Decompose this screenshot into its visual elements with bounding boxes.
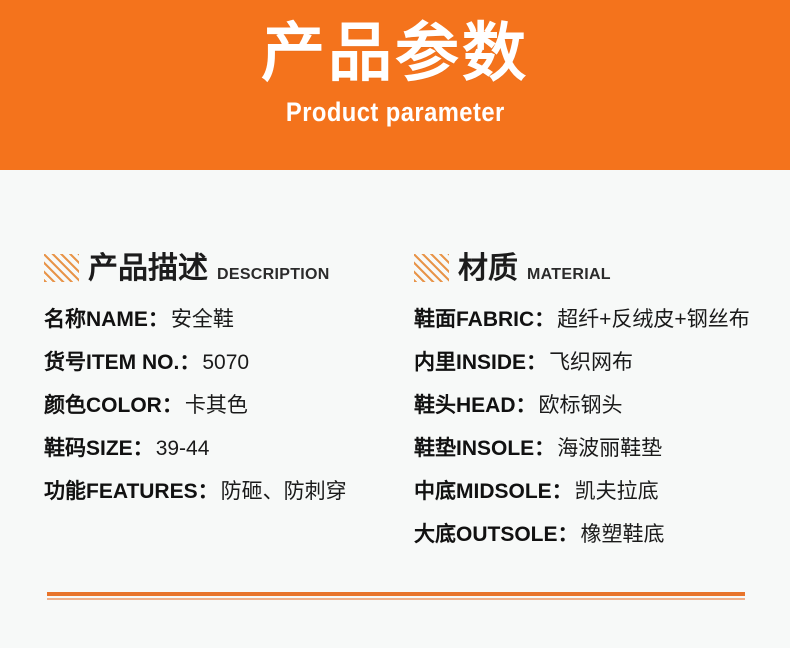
section-material-title-en: MATERIAL — [527, 267, 611, 283]
bottom-divider — [47, 592, 745, 600]
spec-label-color: 颜色COLOR： — [44, 394, 183, 417]
spec-value-color: 卡其色 — [185, 394, 248, 417]
spec-row: 名称NAME：安全鞋 — [44, 298, 394, 341]
spec-row: 鞋垫INSOLE：海波丽鞋垫 — [414, 427, 790, 470]
spec-row: 颜色COLOR：卡其色 — [44, 384, 394, 427]
section-material: 材质 MATERIAL 鞋面FABRIC：超纤+反绒皮+钢丝布 内里INSIDE… — [414, 248, 790, 556]
spec-value-head: 欧标钢头 — [539, 394, 623, 417]
page-title-en: Product parameter — [286, 97, 505, 128]
spec-label-name: 名称NAME： — [44, 308, 169, 331]
spec-row: 中底MIDSOLE：凯夫拉底 — [414, 470, 790, 513]
section-description-heading: 产品描述 DESCRIPTION — [44, 248, 394, 284]
divider-line-thin — [47, 598, 745, 600]
spec-value-fabric: 超纤+反绒皮+钢丝布 — [557, 308, 750, 331]
spec-label-midsole: 中底MIDSOLE： — [414, 480, 573, 503]
diagonal-hatch-icon — [414, 254, 449, 282]
section-description-title-en: DESCRIPTION — [217, 267, 330, 283]
spec-label-head: 鞋头HEAD： — [414, 394, 537, 417]
spec-row: 功能FEATURES：防砸、防刺穿 — [44, 470, 394, 513]
spec-value-insole: 海波丽鞋垫 — [557, 437, 662, 460]
spec-label-features: 功能FEATURES： — [44, 480, 219, 503]
spec-value-outsole: 橡塑鞋底 — [581, 523, 665, 546]
spec-value-size: 39-44 — [156, 437, 210, 460]
spec-row: 内里INSIDE：飞织网布 — [414, 341, 790, 384]
spec-value-midsole: 凯夫拉底 — [575, 480, 659, 503]
spec-row: 鞋码SIZE：39-44 — [44, 427, 394, 470]
spec-value-item-no: 5070 — [202, 351, 249, 374]
section-material-title-cn: 材质 — [458, 254, 518, 284]
spec-label-inside: 内里INSIDE： — [414, 351, 547, 374]
diagonal-hatch-icon — [44, 254, 79, 282]
spec-label-outsole: 大底OUTSOLE： — [414, 523, 579, 546]
spec-value-features: 防砸、防刺穿 — [221, 480, 347, 503]
section-description: 产品描述 DESCRIPTION 名称NAME：安全鞋 货号ITEM NO.：5… — [44, 248, 394, 513]
spec-content-area: 产品描述 DESCRIPTION 名称NAME：安全鞋 货号ITEM NO.：5… — [0, 170, 790, 648]
page-header-banner: 产品参数 Product parameter — [0, 0, 790, 170]
page-title-cn: 产品参数 — [261, 20, 529, 87]
spec-value-inside: 飞织网布 — [549, 351, 633, 374]
spec-row: 大底OUTSOLE：橡塑鞋底 — [414, 513, 790, 556]
spec-row: 鞋头HEAD：欧标钢头 — [414, 384, 790, 427]
spec-row: 货号ITEM NO.：5070 — [44, 341, 394, 384]
spec-label-fabric: 鞋面FABRIC： — [414, 308, 555, 331]
spec-row: 鞋面FABRIC：超纤+反绒皮+钢丝布 — [414, 298, 790, 341]
section-description-title-cn: 产品描述 — [88, 254, 208, 284]
spec-label-size: 鞋码SIZE： — [44, 437, 154, 460]
spec-label-item-no: 货号ITEM NO.： — [44, 351, 200, 374]
spec-label-insole: 鞋垫INSOLE： — [414, 437, 555, 460]
spec-value-name: 安全鞋 — [171, 308, 234, 331]
section-material-heading: 材质 MATERIAL — [414, 248, 790, 284]
